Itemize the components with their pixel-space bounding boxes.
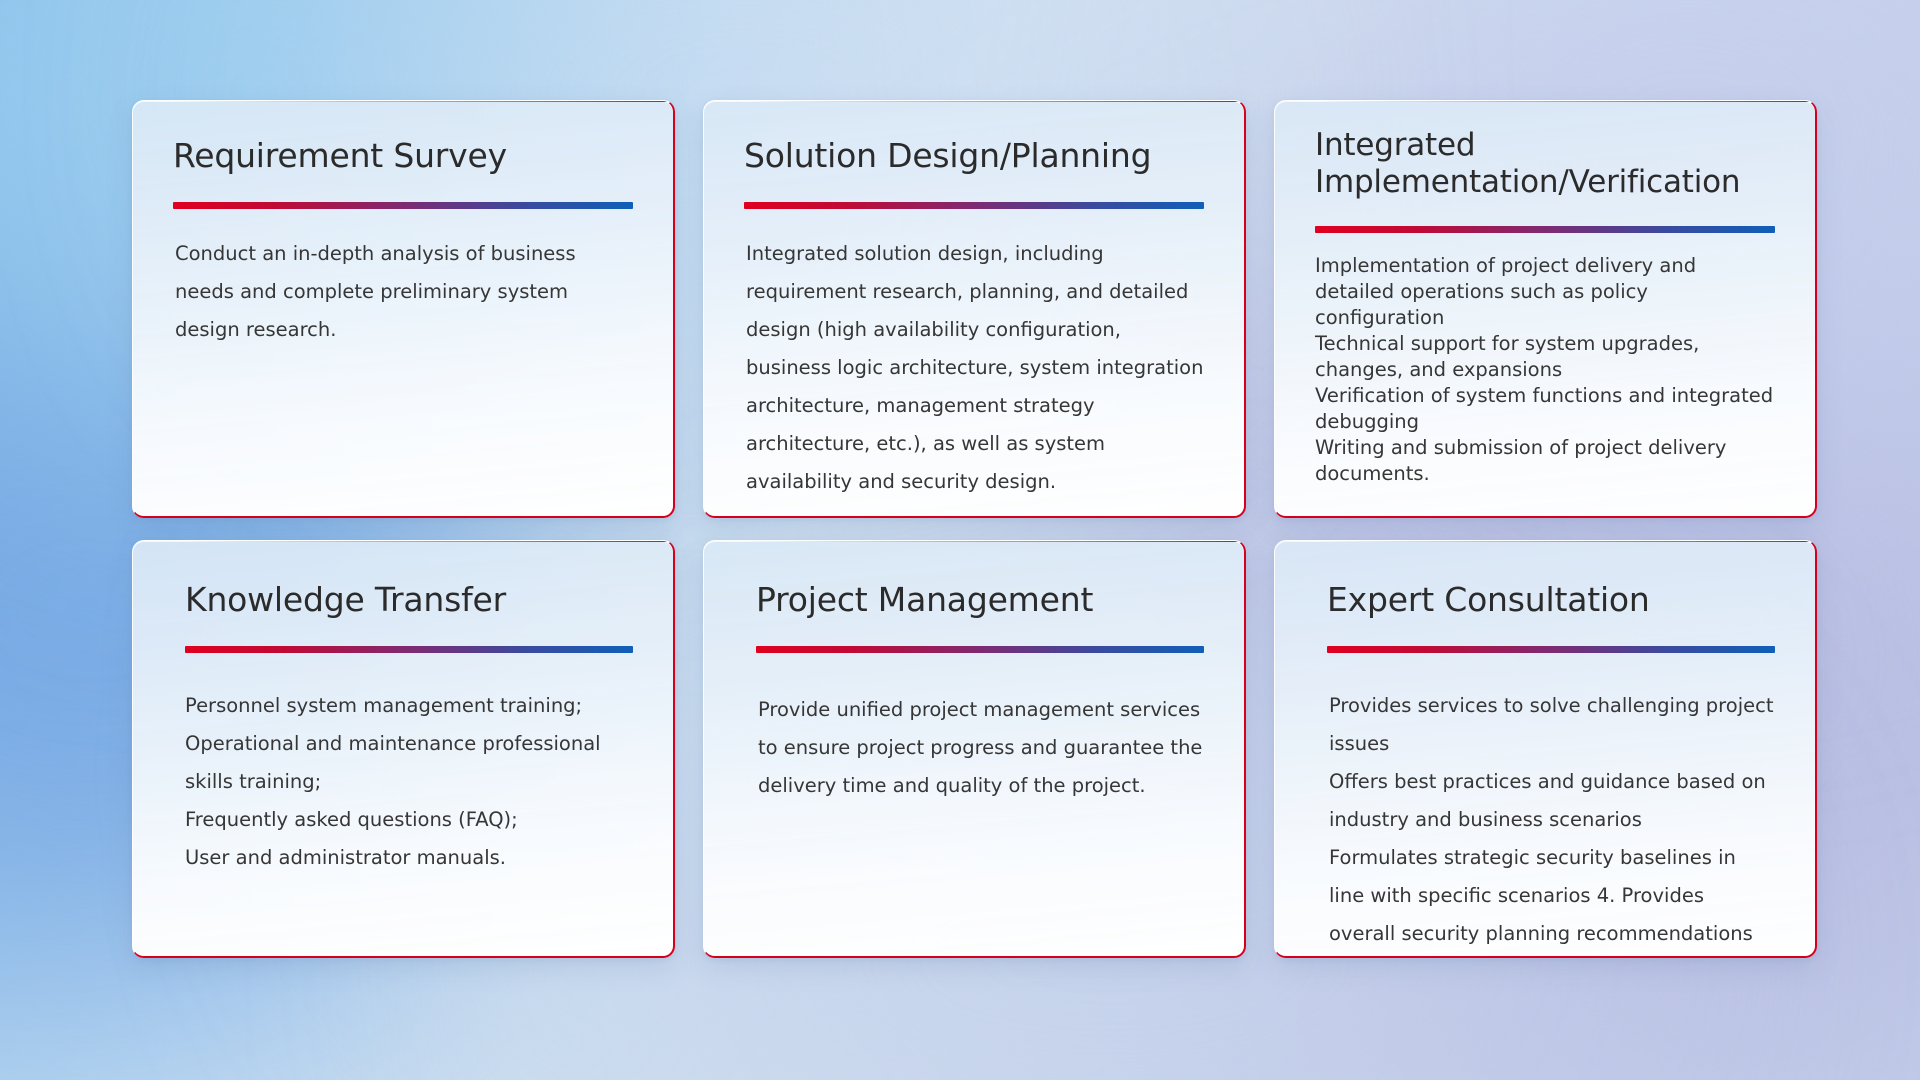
card-body: Implementation of project delivery and d…	[1315, 253, 1775, 486]
card-body: Provides services to solve challenging p…	[1315, 687, 1775, 958]
gradient-divider	[185, 646, 633, 653]
card-title: Expert Consultation	[1315, 581, 1775, 620]
card-title: Project Management	[744, 581, 1204, 620]
gradient-divider	[1327, 646, 1775, 653]
card-integrated-implementation-verification[interactable]: Integrated Implementation/Verification I…	[1274, 100, 1817, 518]
gradient-divider	[744, 202, 1204, 209]
gradient-divider	[173, 202, 633, 209]
card-requirement-survey[interactable]: Requirement Survey Conduct an in-depth a…	[132, 100, 675, 518]
card-title: Integrated Implementation/Verification	[1315, 127, 1775, 200]
card-body: Integrated solution design, including re…	[744, 235, 1204, 501]
card-title: Requirement Survey	[173, 137, 633, 176]
card-expert-consultation[interactable]: Expert Consultation Provides services to…	[1274, 540, 1817, 958]
service-card-grid: Requirement Survey Conduct an in-depth a…	[132, 100, 1818, 958]
gradient-divider	[1315, 226, 1775, 233]
card-knowledge-transfer[interactable]: Knowledge Transfer Personnel system mana…	[132, 540, 675, 958]
card-title: Solution Design/Planning	[744, 137, 1204, 176]
gradient-divider	[756, 646, 1204, 653]
card-title: Knowledge Transfer	[173, 581, 633, 620]
card-body: Provide unified project management servi…	[744, 691, 1204, 805]
card-solution-design-planning[interactable]: Solution Design/Planning Integrated solu…	[703, 100, 1246, 518]
card-project-management[interactable]: Project Management Provide unified proje…	[703, 540, 1246, 958]
card-body: Conduct an in-depth analysis of business…	[173, 235, 633, 349]
card-body: Personnel system management training; Op…	[173, 687, 633, 877]
